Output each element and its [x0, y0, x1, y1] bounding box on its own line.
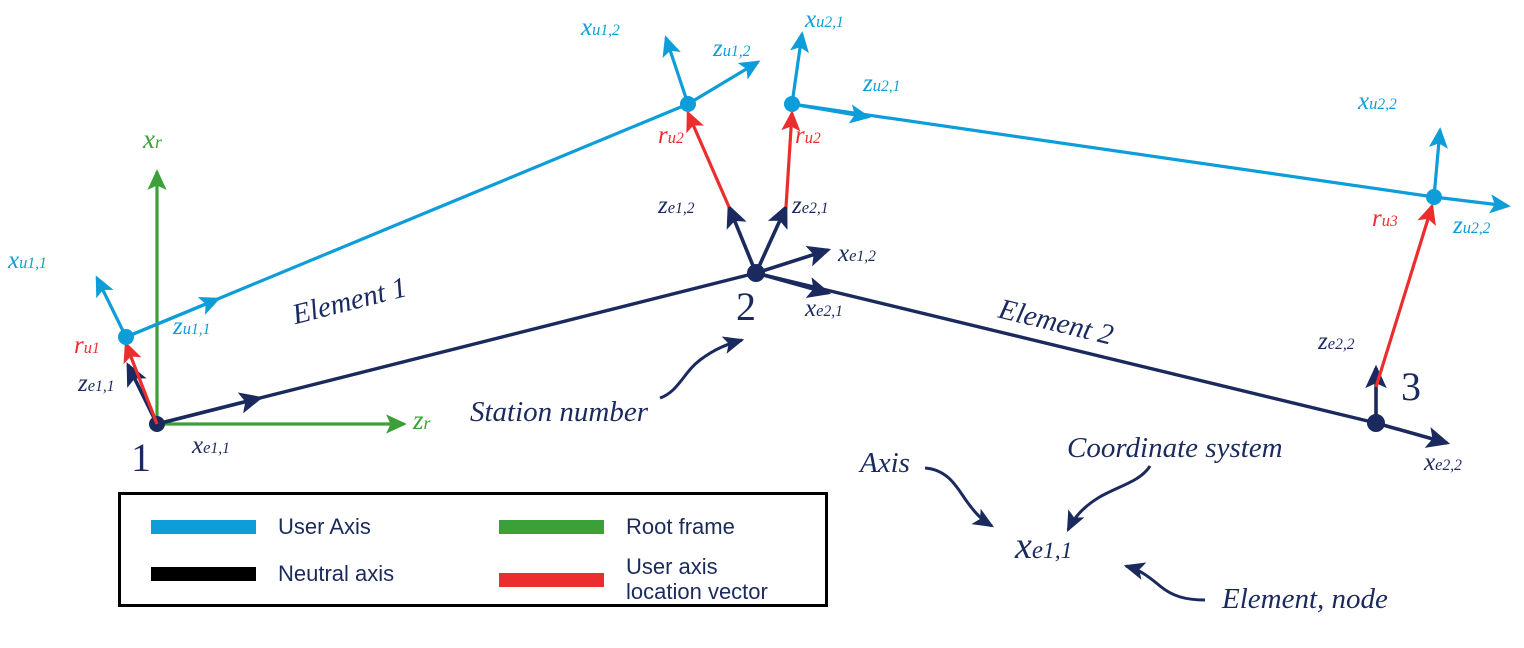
callout-symbol-x-e11: xe1,1 [1015, 524, 1072, 568]
location-vectors-2 [688, 113, 792, 207]
station-number-2: 2 [736, 283, 756, 330]
diagram-canvas: xr zr 1 2 3 Element 1 Element 2 ze1,1 xe… [0, 0, 1524, 648]
callout-station-number [660, 340, 742, 398]
legend-swatch-root-frame [499, 520, 604, 534]
axis-label-x-u21: xu2,1 [805, 6, 844, 34]
axis-label-x-e22: xe2,2 [1424, 449, 1462, 477]
axis-label-x-e21: xe2,1 [805, 295, 843, 323]
legend-item-user-axis-location-vector: User axis location vector [499, 555, 768, 604]
station-3-user-frame [1426, 130, 1508, 206]
axis-label-x-e12: xe1,2 [838, 240, 876, 268]
legend-item-user-axis: User Axis [151, 515, 371, 540]
axis-label-z-r: zr [413, 405, 430, 436]
annotation-element-node: Element, node [1222, 583, 1388, 616]
legend-label-location-vector-line2: location vector [626, 580, 768, 605]
legend-item-root-frame: Root frame [499, 515, 735, 540]
location-vector-label-1: ru1 [74, 332, 100, 360]
axis-label-z-u22: zu2,2 [1453, 212, 1490, 240]
axis-label-x-e11: xe1,1 [192, 432, 230, 460]
axis-label-x-r: xr [143, 124, 162, 155]
axis-label-x-u12: xu1,2 [581, 14, 620, 42]
axis-label-z-u12: zu1,2 [713, 35, 750, 63]
legend-label-neutral-axis: Neutral axis [278, 562, 394, 587]
axis-label-z-e21: ze2,1 [792, 192, 828, 220]
annotation-station-number: Station number [470, 396, 648, 429]
legend-swatch-user-axis [151, 520, 256, 534]
annotation-axis: Axis [860, 447, 910, 480]
annotation-coordinate-system: Coordinate system [1067, 432, 1283, 465]
axis-label-z-u11: zu1,1 [173, 313, 210, 341]
callout-element-node [1126, 566, 1205, 600]
axis-label-z-e11: ze1,1 [78, 370, 114, 398]
legend-label-root-frame: Root frame [626, 515, 735, 540]
station-2-user-frames [666, 34, 868, 117]
location-vector-label-2b: ru2 [795, 122, 821, 150]
location-vector-label-3: ru3 [1372, 205, 1398, 233]
location-vector-3 [1376, 206, 1432, 387]
axis-label-x-u11: xu1,1 [8, 247, 47, 275]
user-axis-line-element-2 [792, 104, 1434, 197]
axis-label-z-u21: zu2,1 [863, 70, 900, 98]
legend: User Axis Neutral axis Root frame User a… [118, 492, 828, 607]
axis-label-z-e12: ze1,2 [658, 192, 694, 220]
legend-swatch-neutral-axis [151, 567, 256, 581]
location-vector-1 [126, 344, 157, 424]
callout-coordinate-system [1068, 466, 1150, 530]
legend-label-user-axis: User Axis [278, 515, 371, 540]
station-number-1: 1 [131, 434, 151, 481]
location-vector-label-2a: ru2 [658, 122, 684, 150]
axis-label-z-e22: ze2,2 [1318, 328, 1354, 356]
legend-swatch-user-axis-location-vector [499, 573, 604, 587]
callout-axis [925, 468, 992, 526]
legend-label-location-vector-line1: User axis [626, 555, 768, 580]
station-number-3: 3 [1401, 363, 1421, 410]
axis-label-x-u22: xu2,2 [1358, 88, 1397, 116]
legend-item-neutral-axis: Neutral axis [151, 562, 394, 587]
beam-element-2 [756, 273, 1376, 423]
